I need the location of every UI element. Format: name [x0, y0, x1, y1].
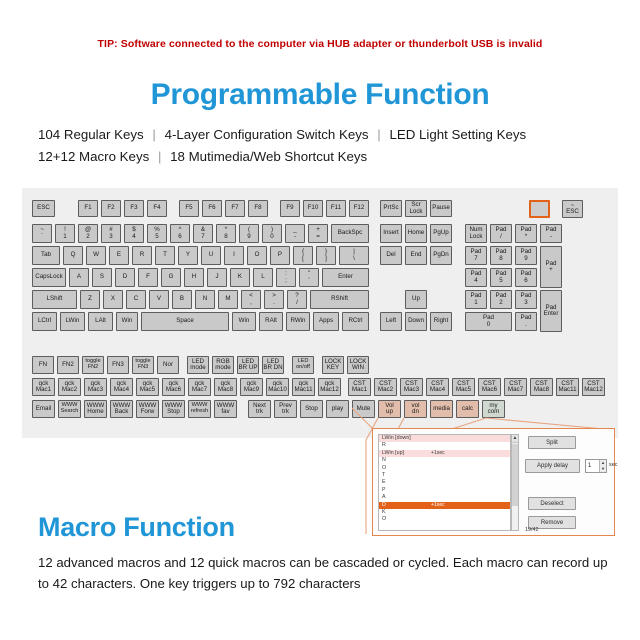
- key-l[interactable]: L: [253, 268, 273, 287]
- key-esc[interactable]: ESC: [32, 200, 55, 217]
- key-r[interactable]: R: [132, 246, 152, 265]
- key-backspc[interactable]: BackSpc: [331, 224, 369, 243]
- key-qck-mac9[interactable]: qck Mac9: [240, 378, 263, 396]
- key-insert[interactable]: Insert: [380, 224, 402, 243]
- macro-step-key: P: [382, 487, 386, 493]
- key-9[interactable]: ( 9: [239, 224, 259, 243]
- key-left[interactable]: Left: [380, 312, 402, 331]
- key-blank[interactable]: : ;: [276, 268, 296, 287]
- key-led-mode[interactable]: LED mode: [187, 356, 209, 374]
- macro-step-row[interactable]: O: [379, 465, 510, 472]
- key-q[interactable]: Q: [63, 246, 83, 265]
- key-cst-mac4[interactable]: CST Mac4: [426, 378, 449, 396]
- key-scr-lock[interactable]: Scr Lock: [405, 200, 427, 217]
- key-fn[interactable]: FN: [32, 356, 54, 374]
- key-p[interactable]: P: [270, 246, 290, 265]
- key-u[interactable]: U: [201, 246, 221, 265]
- key-del[interactable]: Del: [380, 246, 402, 265]
- section-title-macro-function: Macro Function: [38, 512, 235, 543]
- key-www-fav[interactable]: WWW fav: [214, 400, 237, 418]
- key-www-back[interactable]: WWW Back: [110, 400, 133, 418]
- key-j[interactable]: J: [207, 268, 227, 287]
- key-pad-1[interactable]: Pad 1: [465, 290, 487, 309]
- key-f5[interactable]: F5: [179, 200, 199, 217]
- macro-step-row[interactable]: R: [379, 442, 510, 449]
- key-pad-2[interactable]: Pad 2: [490, 290, 512, 309]
- key-e[interactable]: E: [109, 246, 129, 265]
- key-cst-mac3[interactable]: CST Mac3: [400, 378, 423, 396]
- tip-banner: TIP: Software connected to the computer …: [0, 38, 640, 50]
- key-cst-mac7[interactable]: CST Mac7: [504, 378, 527, 396]
- key-mute[interactable]: Mute: [352, 400, 375, 418]
- key-2[interactable]: @ 2: [78, 224, 98, 243]
- key-blank[interactable]: } ]: [316, 246, 336, 265]
- feature-led-keys: LED Light Setting Keys: [389, 127, 526, 142]
- key-www-search[interactable]: WWW Search: [58, 400, 81, 418]
- key-f4[interactable]: F4: [147, 200, 167, 217]
- macro-step-row[interactable]: E: [379, 479, 510, 486]
- key-pgup[interactable]: PgUp: [430, 224, 452, 243]
- key-pad-0[interactable]: Pad 0: [465, 312, 512, 331]
- key-cst-mac8[interactable]: CST Mac8: [530, 378, 553, 396]
- delay-value-stepper[interactable]: 1 ▲▼: [585, 459, 607, 473]
- key-qck-mac8[interactable]: qck Mac8: [214, 378, 237, 396]
- key-pad-5[interactable]: Pad 5: [490, 268, 512, 287]
- key-qck-mac5[interactable]: qck Mac5: [136, 378, 159, 396]
- key-pad[interactable]: Pad -: [540, 224, 562, 243]
- delay-value: 1: [588, 463, 591, 469]
- key-enter[interactable]: Enter: [322, 268, 369, 287]
- key-pad-9[interactable]: Pad 9: [515, 246, 537, 265]
- key-www-stop[interactable]: WWW Stop: [162, 400, 185, 418]
- key-blank[interactable]: > .: [264, 290, 284, 309]
- key-t[interactable]: T: [155, 246, 175, 265]
- macro-step-key: K: [382, 509, 386, 515]
- key-7[interactable]: & 7: [193, 224, 213, 243]
- key-lwin[interactable]: LWin: [60, 312, 85, 331]
- macro-step-row[interactable]: LWin [down]: [379, 435, 510, 442]
- key-pad-3[interactable]: Pad 3: [515, 290, 537, 309]
- scrollbar-thumb[interactable]: [512, 444, 518, 506]
- feature-multimedia-keys: 18 Mutimedia/Web Shortcut Keys: [170, 149, 367, 164]
- key-s[interactable]: S: [92, 268, 112, 287]
- key-prtsc[interactable]: PrtSc: [380, 200, 402, 217]
- key-qck-mac1[interactable]: qck Mac1: [32, 378, 55, 396]
- key-cst-mac2[interactable]: CST Mac2: [374, 378, 397, 396]
- key-5[interactable]: % 5: [147, 224, 167, 243]
- key-end[interactable]: End: [405, 246, 427, 265]
- key-pad[interactable]: Pad .: [515, 312, 537, 331]
- key-pad-4[interactable]: Pad 4: [465, 268, 487, 287]
- key-qck-mac6[interactable]: qck Mac6: [162, 378, 185, 396]
- key-toggle-fn2[interactable]: toggle FN2: [82, 356, 104, 374]
- macro-step-row[interactable]: N: [379, 457, 510, 464]
- key-rctrl[interactable]: RCtrl: [342, 312, 369, 331]
- key-www-refresh[interactable]: WWW refresh: [188, 400, 211, 418]
- key-space[interactable]: Space: [141, 312, 229, 331]
- key-qck-mac10[interactable]: qck Mac10: [266, 378, 289, 396]
- macro-step-row[interactable]: P: [379, 487, 510, 494]
- scroll-up-arrow-icon[interactable]: ▲: [512, 435, 518, 443]
- key-blank[interactable]: + =: [308, 224, 328, 243]
- key-rshift[interactable]: RShift: [310, 290, 369, 309]
- key-f9[interactable]: F9: [280, 200, 300, 217]
- deselect-button[interactable]: Deselect: [528, 497, 576, 510]
- key-fn2[interactable]: FN2: [57, 356, 79, 374]
- key-qck-mac2[interactable]: qck Mac2: [58, 378, 81, 396]
- key-f2[interactable]: F2: [101, 200, 121, 217]
- key-3[interactable]: # 3: [101, 224, 121, 243]
- stepper-arrows-icon[interactable]: ▲▼: [599, 460, 606, 472]
- feature-regular-keys: 104 Regular Keys: [38, 127, 144, 142]
- key-m[interactable]: M: [218, 290, 238, 309]
- page-title-programmable-function: Programmable Function: [0, 78, 640, 112]
- key-cst-mac6[interactable]: CST Mac6: [478, 378, 501, 396]
- key-pad[interactable]: Pad *: [515, 224, 537, 243]
- macro-step-key: R: [382, 442, 386, 448]
- key-f11[interactable]: F11: [326, 200, 346, 217]
- macro-step-row[interactable]: D+1sec: [379, 502, 510, 509]
- key-num-lock[interactable]: Num Lock: [465, 224, 487, 243]
- key-blank[interactable]: [529, 200, 550, 218]
- feature-separator: |: [153, 149, 166, 164]
- key-y[interactable]: Y: [178, 246, 198, 265]
- key-cst-mac1[interactable]: CST Mac1: [348, 378, 371, 396]
- key-lctrl[interactable]: LCtrl: [32, 312, 57, 331]
- key-down[interactable]: Down: [405, 312, 427, 331]
- key-email[interactable]: Email: [32, 400, 55, 418]
- key-capslock[interactable]: CapsLock: [32, 268, 66, 287]
- key-v[interactable]: V: [149, 290, 169, 309]
- macro-step-key: O: [382, 465, 386, 471]
- key-prev-trk[interactable]: Prev trk: [274, 400, 297, 418]
- feature-line-1: 104 Regular Keys | 4-Layer Configuration…: [38, 124, 618, 146]
- key-esc[interactable]: ~ ESC: [562, 200, 583, 218]
- key-led-on-off[interactable]: LED on/off: [292, 356, 314, 374]
- key-f6[interactable]: F6: [202, 200, 222, 217]
- key-b[interactable]: B: [172, 290, 192, 309]
- macro-step-key: N: [382, 457, 386, 463]
- key-cst-mac5[interactable]: CST Mac5: [452, 378, 475, 396]
- key-f[interactable]: F: [138, 268, 158, 287]
- key-blank[interactable]: _ -: [285, 224, 305, 243]
- key-led-br-up[interactable]: LED BR UP: [237, 356, 259, 374]
- feature-layer-switch-keys: 4-Layer Configuration Switch Keys: [165, 127, 369, 142]
- key-n[interactable]: N: [195, 290, 215, 309]
- key-vol-dn[interactable]: vol dn: [404, 400, 427, 418]
- key-i[interactable]: I: [224, 246, 244, 265]
- key-pad[interactable]: Pad /: [490, 224, 512, 243]
- key-d[interactable]: D: [115, 268, 135, 287]
- key-f12[interactable]: F12: [349, 200, 369, 217]
- key-pad-8[interactable]: Pad 8: [490, 246, 512, 265]
- key-stop[interactable]: Stop: [300, 400, 323, 418]
- key-qck-mac3[interactable]: qck Mac3: [84, 378, 107, 396]
- key-win[interactable]: Win: [232, 312, 256, 331]
- key-www-home[interactable]: WWW Home: [84, 400, 107, 418]
- key-rwin[interactable]: RWin: [286, 312, 310, 331]
- key-k[interactable]: K: [230, 268, 250, 287]
- macro-step-list[interactable]: LWin [down]RLWin [up]+1secNOTEPAD+1secKO: [378, 434, 511, 531]
- key-lalt[interactable]: LAlt: [88, 312, 113, 331]
- key-up[interactable]: Up: [405, 290, 427, 309]
- key-h[interactable]: H: [184, 268, 204, 287]
- key-play[interactable]: play: [326, 400, 349, 418]
- key-f3[interactable]: F3: [124, 200, 144, 217]
- feature-separator: |: [147, 127, 160, 142]
- key-pgdn[interactable]: PgDn: [430, 246, 452, 265]
- macro-step-row[interactable]: K: [379, 509, 510, 516]
- key-cst-mac12[interactable]: CST Mac12: [582, 378, 605, 396]
- key-a[interactable]: A: [69, 268, 89, 287]
- key-f8[interactable]: F8: [248, 200, 268, 217]
- key-rgb-mode[interactable]: RGB mode: [212, 356, 234, 374]
- key-4[interactable]: $ 4: [124, 224, 144, 243]
- feature-macro-keys: 12+12 Macro Keys: [38, 149, 149, 164]
- key-x[interactable]: X: [103, 290, 123, 309]
- key-cst-mac11[interactable]: CST Mac11: [556, 378, 579, 396]
- key-z[interactable]: Z: [80, 290, 100, 309]
- key-vol-up[interactable]: Vol up: [378, 400, 401, 418]
- key-pad-7[interactable]: Pad 7: [465, 246, 487, 265]
- apply-delay-button[interactable]: Apply delay: [525, 459, 580, 473]
- key-c[interactable]: C: [126, 290, 146, 309]
- key-pad[interactable]: Pad +: [540, 246, 562, 288]
- macro-step-counter: 19/42: [525, 527, 539, 533]
- key-pause[interactable]: Pause: [430, 200, 452, 217]
- key-ralt[interactable]: RAlt: [259, 312, 283, 331]
- key-0[interactable]: ) 0: [262, 224, 282, 243]
- feature-line-2: 12+12 Macro Keys | 18 Mutimedia/Web Shor…: [38, 146, 618, 168]
- macro-list-scrollbar[interactable]: ▲: [511, 434, 519, 531]
- key-blank[interactable]: ? /: [287, 290, 307, 309]
- key-win[interactable]: Win: [116, 312, 138, 331]
- key-lshift[interactable]: LShift: [32, 290, 77, 309]
- key-blank[interactable]: { [: [293, 246, 313, 265]
- macro-step-key: O: [382, 516, 386, 522]
- key-fn3[interactable]: FN3: [107, 356, 129, 374]
- split-button[interactable]: Split: [528, 436, 576, 449]
- key-blank[interactable]: < ,: [241, 290, 261, 309]
- key-o[interactable]: O: [247, 246, 267, 265]
- key-g[interactable]: G: [161, 268, 181, 287]
- key-f1[interactable]: F1: [78, 200, 98, 217]
- macro-step-key: E: [382, 479, 386, 485]
- macro-step-key: A: [382, 494, 386, 500]
- key-right[interactable]: Right: [430, 312, 452, 331]
- key-www-forw[interactable]: WWW Forw: [136, 400, 159, 418]
- key-home[interactable]: Home: [405, 224, 427, 243]
- feature-separator: |: [372, 127, 385, 142]
- key-calc[interactable]: calc: [456, 400, 479, 418]
- key-f10[interactable]: F10: [303, 200, 323, 217]
- key-qck-mac7[interactable]: qck Mac7: [188, 378, 211, 396]
- feature-list: 104 Regular Keys | 4-Layer Configuration…: [38, 124, 618, 168]
- key-tab[interactable]: Tab: [32, 246, 60, 265]
- key-media[interactable]: media: [430, 400, 453, 418]
- key-w[interactable]: W: [86, 246, 106, 265]
- key-qck-mac4[interactable]: qck Mac4: [110, 378, 133, 396]
- macro-step-row[interactable]: O: [379, 516, 510, 523]
- macro-step-key: LWin [up]: [382, 450, 404, 456]
- key-6[interactable]: ^ 6: [170, 224, 190, 243]
- key-apps[interactable]: Apps: [313, 312, 339, 331]
- macro-step-key: D: [382, 502, 386, 508]
- key-nor[interactable]: Nor: [157, 356, 179, 374]
- macro-step-row[interactable]: T: [379, 472, 510, 479]
- key-blank[interactable]: ~ `: [32, 224, 52, 243]
- key-f7[interactable]: F7: [225, 200, 245, 217]
- key-qck-mac12[interactable]: qck Mac12: [318, 378, 341, 396]
- macro-step-row[interactable]: LWin [up]+1sec: [379, 450, 510, 457]
- macro-step-row[interactable]: A: [379, 494, 510, 501]
- key-pad-6[interactable]: Pad 6: [515, 268, 537, 287]
- key-pad-enter[interactable]: Pad Enter: [540, 290, 562, 332]
- key-led-br-dn[interactable]: LED BR DN: [262, 356, 284, 374]
- key-8[interactable]: * 8: [216, 224, 236, 243]
- macro-description: 12 advanced macros and 12 quick macros c…: [38, 552, 613, 594]
- keyboard-layout-diagram: ESCF1F2F3F4F5F6F7F8F9F10F11F12PrtScScr L…: [22, 188, 618, 438]
- key-lock-key[interactable]: LOCK KEY: [322, 356, 344, 374]
- macro-step-key: T: [382, 472, 385, 478]
- macro-step-key: LWin [down]: [382, 435, 411, 441]
- key-qck-mac11[interactable]: qck Mac11: [292, 378, 315, 396]
- key-blank[interactable]: | \: [339, 246, 369, 265]
- macro-editor-panel: LWin [down]RLWin [up]+1secNOTEPAD+1secKO…: [372, 428, 615, 536]
- macro-step-delay: +1sec: [431, 450, 445, 457]
- key-blank[interactable]: " ': [299, 268, 319, 287]
- delay-unit-label: sec: [609, 462, 617, 468]
- macro-step-delay: +1sec: [431, 502, 445, 509]
- key-my-com[interactable]: my com: [482, 400, 505, 418]
- key-toggle-fn3[interactable]: toggle FN3: [132, 356, 154, 374]
- key-lock-win[interactable]: LOCK WIN: [347, 356, 369, 374]
- key-next-trk[interactable]: Next trk: [248, 400, 271, 418]
- key-1[interactable]: ! 1: [55, 224, 75, 243]
